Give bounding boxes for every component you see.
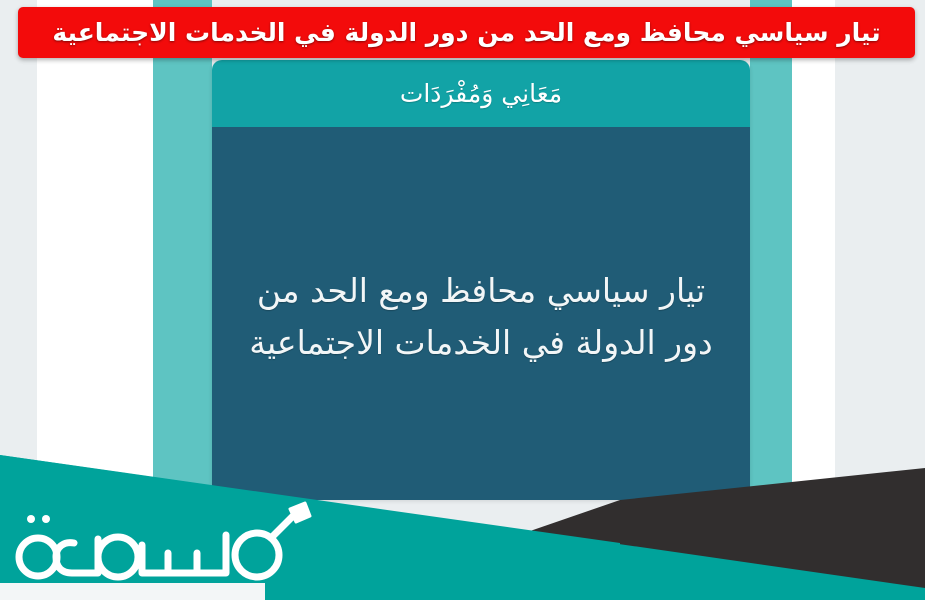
card-body-text: تيار سياسي محافظ ومع الحد من دور الدولة … (246, 265, 716, 369)
card-body: تيار سياسي محافظ ومع الحد من دور الدولة … (212, 127, 750, 500)
background-band-gray-right (835, 0, 925, 600)
headline-banner: تيار سياسي محافظ ومع الحد من دور الدولة … (18, 7, 915, 58)
logo-letter-seen (142, 535, 226, 573)
content-card: مَعَانِي وَمُفْرَدَات تيار سياسي محافظ و… (212, 60, 750, 500)
logo-letter-waw-2 (98, 537, 138, 577)
logo-ta-marbuta-dots (27, 515, 50, 523)
brand-logo-mark (14, 495, 314, 585)
brand-logo[interactable] (14, 495, 314, 585)
background-band-teal-right (750, 0, 792, 600)
logo-letter-ain (56, 539, 98, 573)
headline-banner-text: تيار سياسي محافظ ومع الحد من دور الدولة … (52, 20, 880, 45)
card-header-title: مَعَانِي وَمُفْرَدَات (400, 81, 562, 106)
screenshot-canvas: مَعَانِي وَمُفْرَدَات تيار سياسي محافظ و… (0, 0, 925, 600)
background-band-white-right (792, 0, 835, 600)
card-header: مَعَانِي وَمُفْرَدَات (212, 60, 750, 127)
logo-waw-stem (272, 514, 295, 537)
logo-letter-ta-marbuta (19, 538, 57, 576)
